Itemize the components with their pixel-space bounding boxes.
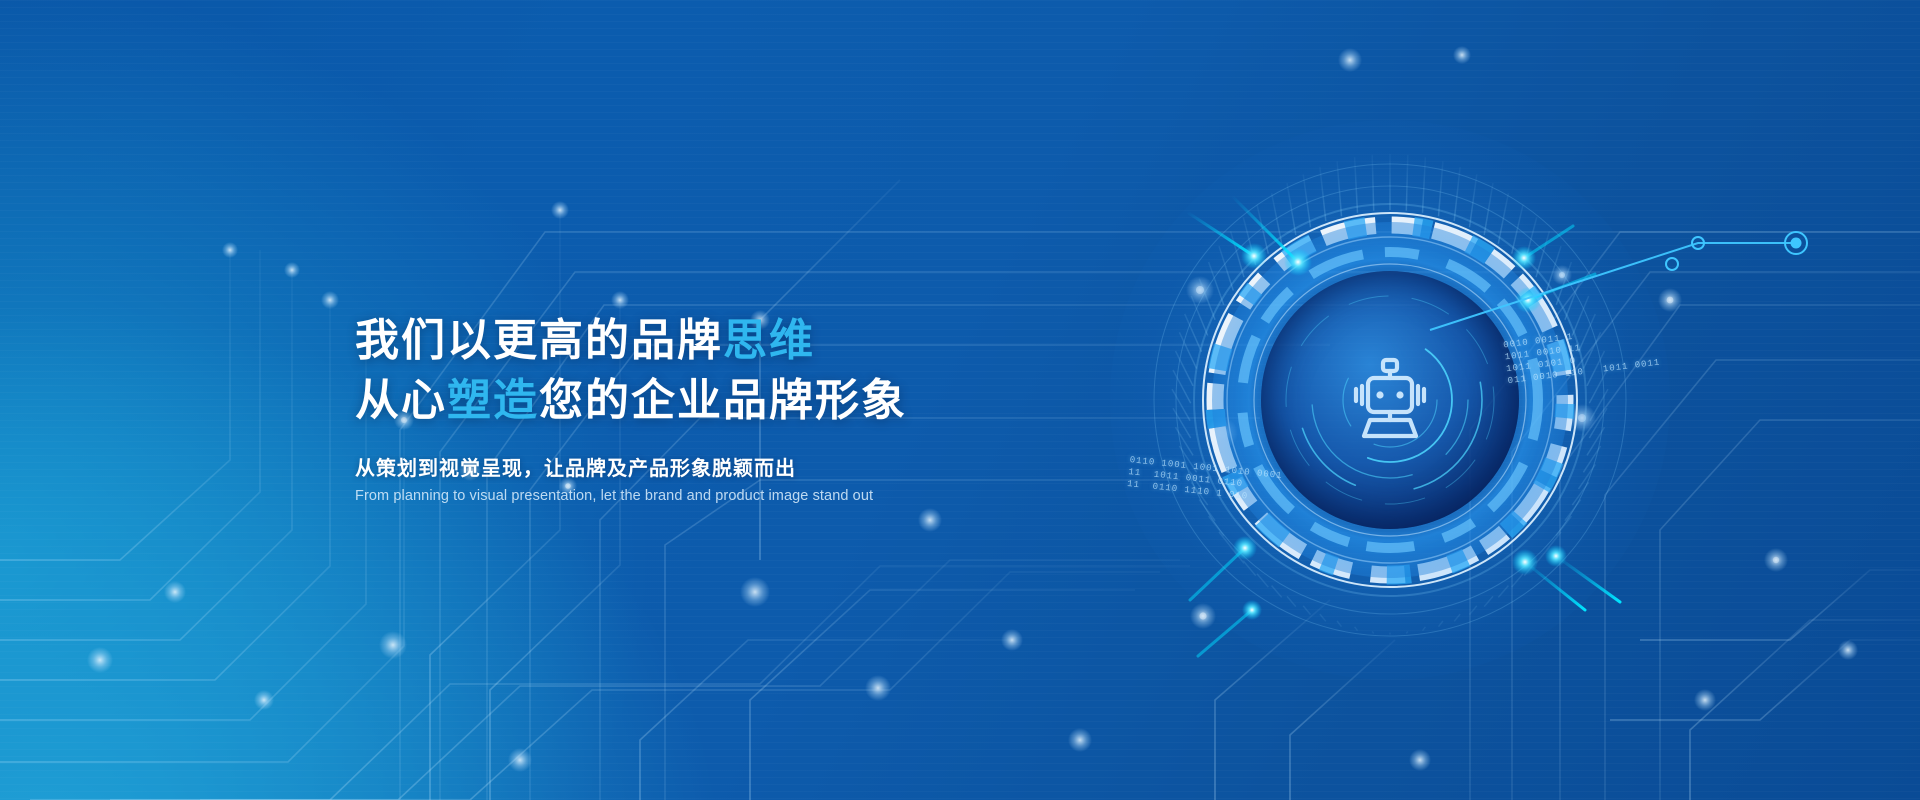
hero-banner: 0010 0011 1 1011 0010 11 1011 0101 0 011…	[0, 0, 1920, 800]
hero-copy-block: 我们以更高的品牌思维 从心塑造您的企业品牌形象 从策划到视觉呈现，让品牌及产品形…	[355, 312, 1175, 504]
headline-line-2: 从心塑造您的企业品牌形象	[355, 372, 1175, 430]
headline-line-1: 我们以更高的品牌思维	[355, 312, 1175, 370]
headline-line2-accent: 塑造	[447, 376, 539, 425]
subtitle-english: From planning to visual presentation, le…	[355, 488, 1175, 504]
headline-line1-accent: 思维	[723, 316, 815, 365]
headline-line1-prefix: 我们以更高的品牌	[355, 316, 723, 365]
headline-line2-suffix: 您的企业品牌形象	[539, 376, 907, 425]
robot-icon	[1330, 340, 1450, 460]
headline-line2-prefix: 从心	[355, 376, 447, 425]
subtitle-chinese: 从策划到视觉呈现，让品牌及产品形象脱颖而出	[355, 452, 1175, 481]
